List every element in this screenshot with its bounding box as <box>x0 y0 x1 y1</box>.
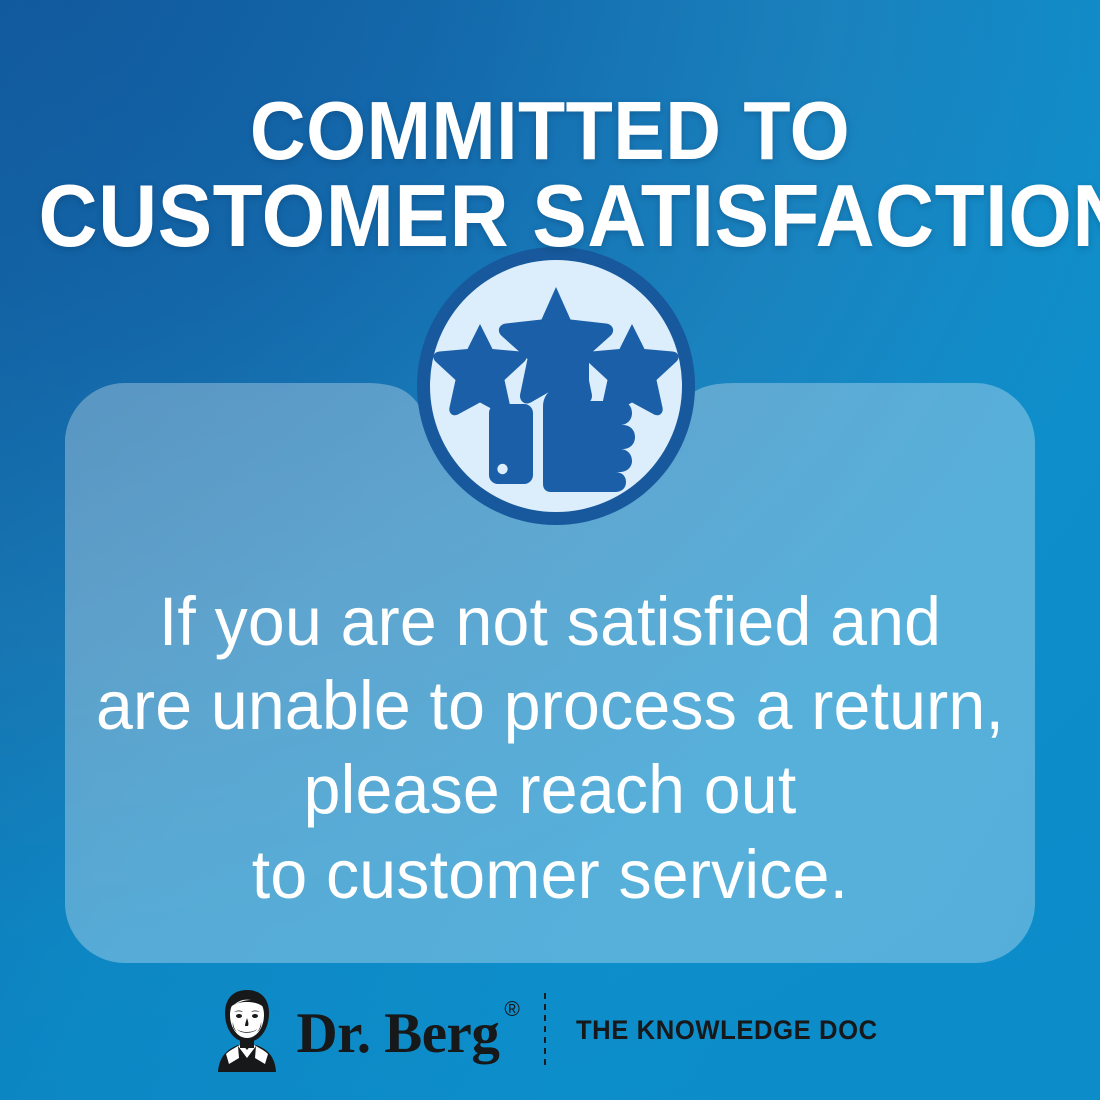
registered-mark: ® <box>504 998 519 1022</box>
brand-tagline: THE KNOWLEDGE DOC <box>576 1015 878 1046</box>
headline-line-1: COMMITTED TO <box>39 90 1062 172</box>
promo-poster: COMMITTED TO CUSTOMER SATISFACTION <box>0 0 1100 1100</box>
brand-name: Dr. Berg <box>296 1005 499 1062</box>
thumb-cuff-dot <box>497 464 507 474</box>
body-message: If you are not satisfied and are unable … <box>89 580 1011 917</box>
logo-divider <box>544 993 546 1067</box>
body-line-2: are unable to process a return, <box>89 664 1011 748</box>
body-line-4: to customer service. <box>89 833 1011 917</box>
page-title: COMMITTED TO CUSTOMER SATISFACTION <box>39 90 1062 259</box>
satisfaction-badge <box>417 247 695 525</box>
dr-berg-portrait-icon <box>214 988 280 1072</box>
headline-line-2: CUSTOMER SATISFACTION <box>39 172 1062 259</box>
thumb-cuff <box>489 404 533 484</box>
body-line-3: please reach out <box>89 748 1011 832</box>
brand-lockup: Dr. Berg ® THE KNOWLEDGE DOC <box>0 985 1100 1075</box>
body-line-1: If you are not satisfied and <box>89 580 1011 664</box>
